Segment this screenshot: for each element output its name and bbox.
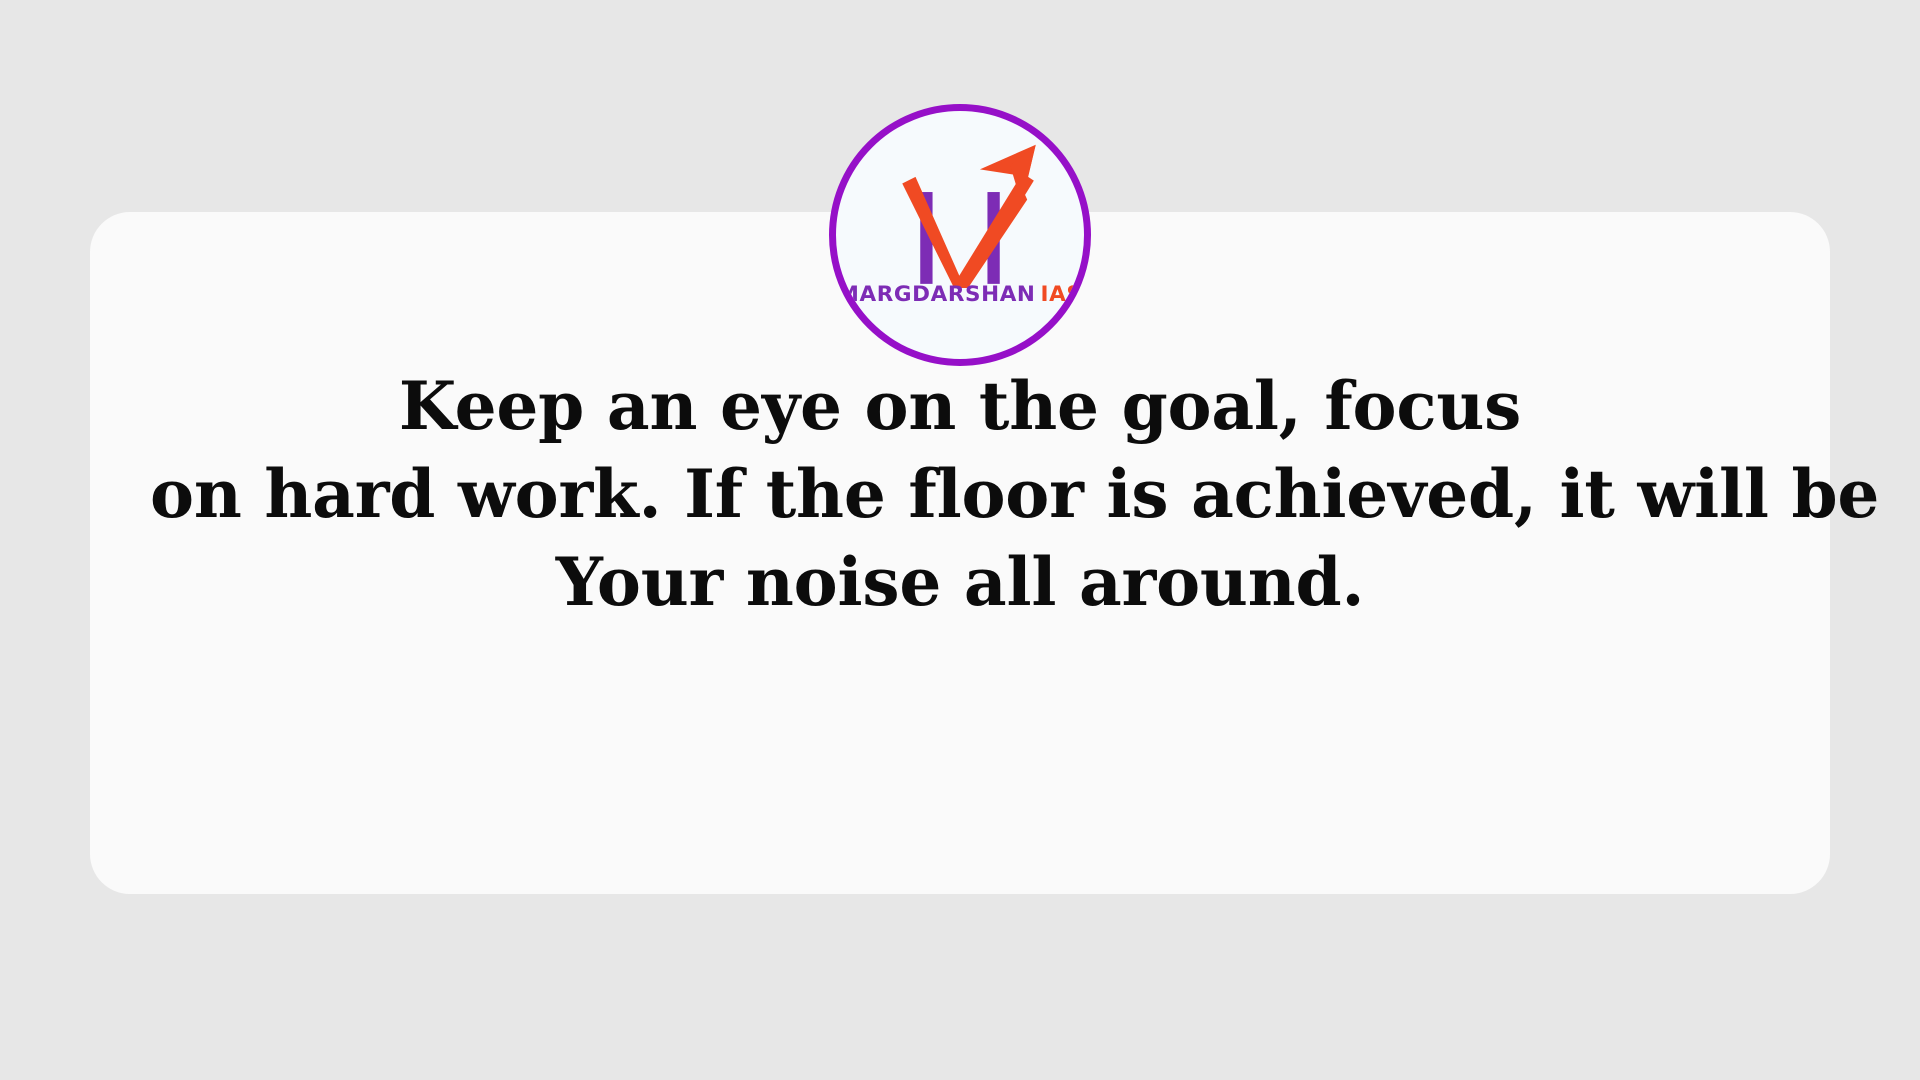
logo-wordmark-primary: MARGDARSHAN [838, 282, 1036, 307]
quote-line-2: on hard work. If the floor is achieved, … [150, 450, 1770, 538]
page-background: Keep an eye on the goal, focus on hard w… [0, 0, 1920, 1080]
brand-logo-badge: MARGDARSHANIAS [829, 104, 1091, 366]
logo-wordmark: MARGDARSHANIAS [836, 284, 1084, 306]
logo-wordmark-accent: IAS [1041, 282, 1083, 307]
quote-line-1: Keep an eye on the goal, focus [150, 362, 1770, 450]
quote-text-block: Keep an eye on the goal, focus on hard w… [150, 362, 1770, 626]
logo-mark-icon [836, 133, 1084, 288]
quote-line-3: Your noise all around. [150, 538, 1770, 626]
logo-inner: MARGDARSHANIAS [836, 111, 1084, 359]
